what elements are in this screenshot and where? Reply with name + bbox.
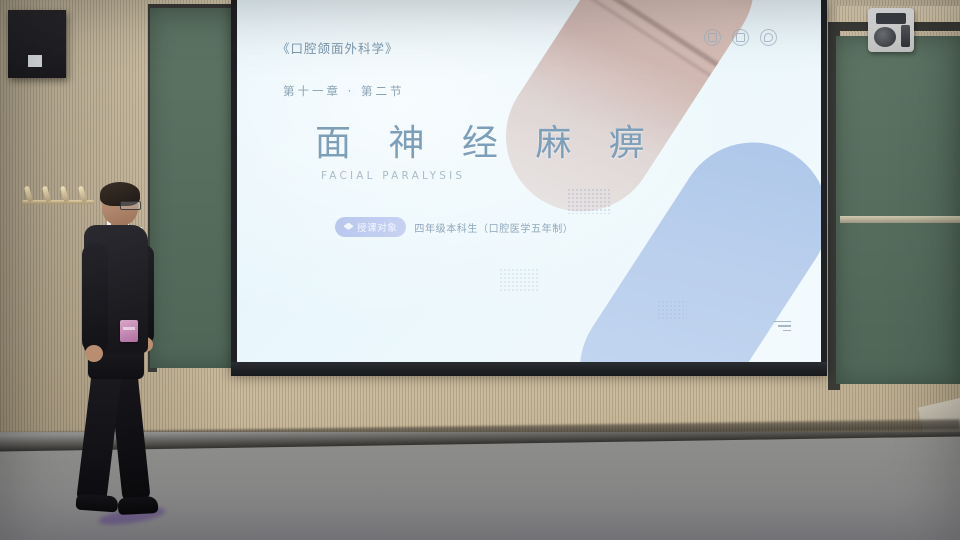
slide-book-title: 《口腔颌面外科学》 [277,38,399,57]
book-icon [732,29,749,46]
note-icon [760,29,777,46]
document-icon [704,29,721,46]
audience-badge-label: 授课对象 [357,220,397,234]
slide-chapter-label: 第十一章 · 第二节 [283,83,404,99]
projection-screen-bottom-bar [231,362,827,376]
dot-grid-1 [567,188,611,214]
dot-grid-3 [657,300,687,320]
right-chalkboard [836,36,960,384]
intercom-handset[interactable] [901,25,910,47]
slide-main-title: 面 神 经 麻 痹 [315,114,658,166]
wall-speaker [8,10,66,78]
slide-lines-mark [774,321,791,334]
right-chalkboard-rail-middle [840,216,960,223]
graduation-cap-icon [344,223,353,232]
lecturer-front-hand [85,345,103,362]
lecturer-back-shoe [118,496,159,515]
audience-badge: 授课对象 [335,217,406,237]
lecture-hall-scene: 《口腔颌面外科学》 第十一章 · 第二节 面 神 经 麻 痹 FACIAL PA… [0,0,960,540]
wall-intercom-device[interactable] [868,8,914,52]
dot-grid-2 [499,268,539,292]
glasses-icon [120,201,141,210]
lecturer-id-badge-text [123,327,135,330]
audience-description: 四年级本科生（口腔医学五年制） [414,220,573,235]
lecturer-front-arm [82,243,108,353]
lecturer-front-shoe [75,494,118,513]
intercom-knob[interactable] [874,27,896,47]
audience-row: 授课对象 四年级本科生（口腔医学五年制） [335,217,573,237]
lecturer-id-badge [120,320,138,342]
slide-icon-row [704,29,777,46]
lecturer [62,185,180,537]
slide-subtitle-english: FACIAL PARALYSIS [321,170,465,182]
speaker-led [28,55,42,67]
intercom-display [876,13,906,24]
projection-screen[interactable]: 《口腔颌面外科学》 第十一章 · 第二节 面 神 经 麻 痹 FACIAL PA… [237,0,821,362]
